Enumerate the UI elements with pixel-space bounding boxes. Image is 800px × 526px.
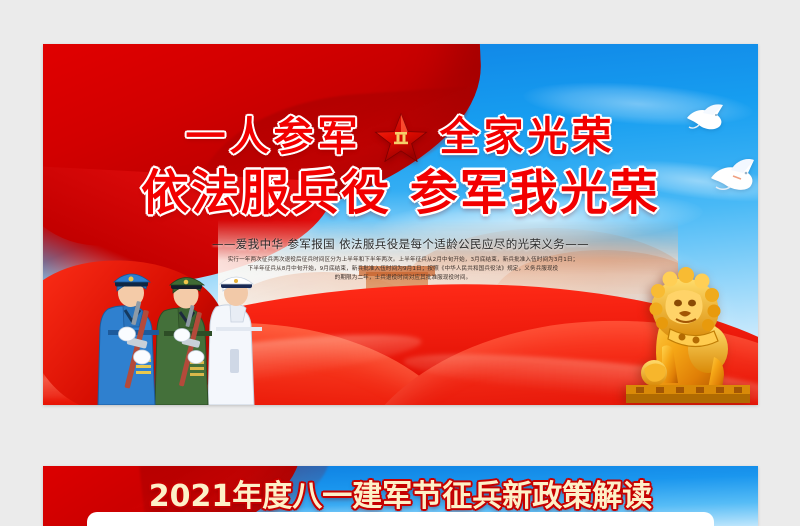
policy-body-text: 实行一年两次征兵两次退役后征兵时间区分为上半年和下半年两次。上半年征兵从2月中旬… <box>193 256 613 283</box>
banner-subtitle: ——爱我中华 参军报国 依法服兵役是每个适龄公民应尽的光荣义务—— <box>43 236 758 252</box>
policy-body-line: 的期限为二年，士兵退役时间对应其批准服现役时间。 <box>193 274 613 283</box>
policy-body-line: 实行一年两次征兵两次退役后征兵时间区分为上半年和下半年两次。上半年征兵从2月中旬… <box>193 256 613 265</box>
main-recruitment-banner: 一人参军 <box>43 44 758 405</box>
headline-block: 一人参军 <box>43 112 758 220</box>
golden-guardian-lion-statue <box>622 251 752 403</box>
bayi-red-star-icon <box>374 112 428 162</box>
great-wall-rampart <box>278 303 658 322</box>
policy-body-line: 下半年征兵从8月中旬开始，9月底结束，新兵批准入伍时间为9月1日；按照《中华人民… <box>193 265 613 274</box>
air-force-soldier <box>98 274 159 405</box>
headline-line-2: 依法服兵役 参军我光荣 <box>43 168 758 220</box>
poster-stage: 一人参军 <box>0 0 800 526</box>
headline-line-1: 一人参军 <box>43 112 758 162</box>
white-content-panel <box>87 512 714 526</box>
policy-banner-title: 2021年度八一建军节征兵新政策解读 <box>43 471 758 515</box>
army-soldier <box>155 278 212 406</box>
policy-interpretation-banner: 2021年度八一建军节征兵新政策解读 <box>43 466 758 526</box>
headline-right-text: 全家光荣 <box>440 116 616 158</box>
headline-left-text: 一人参军 <box>186 116 362 158</box>
navy-soldier <box>208 277 262 405</box>
